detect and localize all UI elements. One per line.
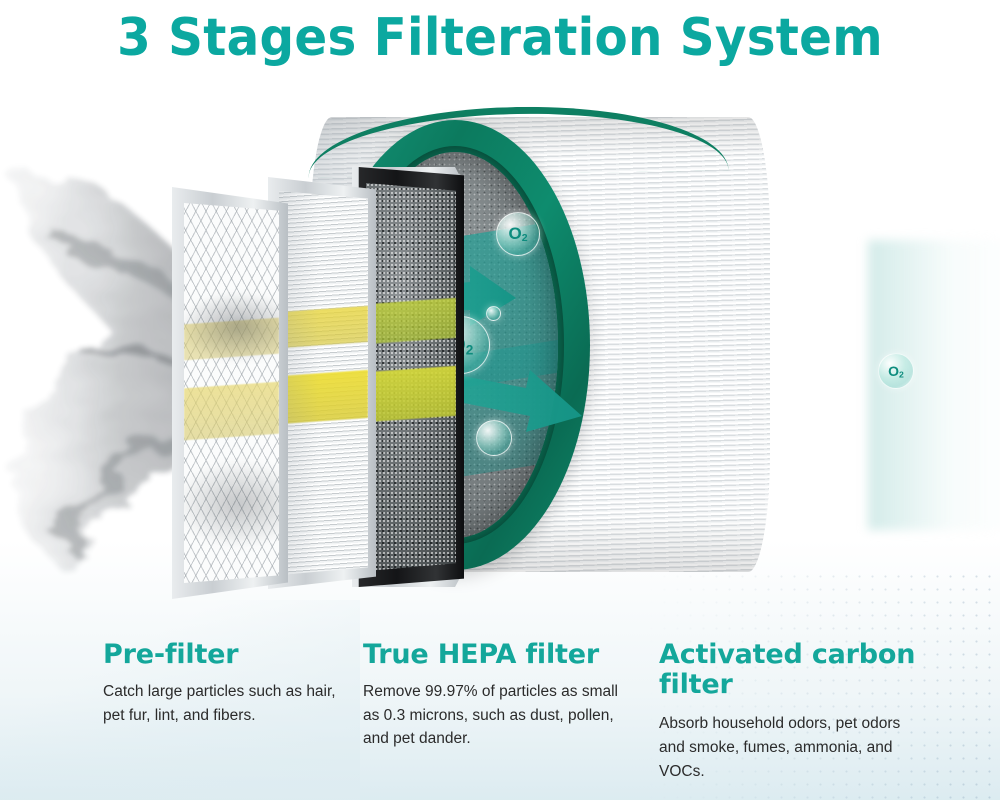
stage-card-carbon-filter: Activated carbon filter Absorb household… bbox=[659, 640, 919, 783]
stage-description: Absorb household odors, pet odors and sm… bbox=[659, 712, 919, 783]
airflow-stripe bbox=[184, 382, 279, 441]
pre-filter-mesh-texture bbox=[184, 203, 279, 583]
stage-heading: True HEPA filter bbox=[363, 640, 638, 670]
stage-heading: Pre-filter bbox=[103, 640, 353, 670]
stage-captions: Pre-filter Catch large particles such as… bbox=[0, 618, 1000, 800]
o2-bubble-plain bbox=[486, 306, 501, 321]
hepa-pleat-texture bbox=[279, 191, 368, 575]
stage-heading: Activated carbon filter bbox=[659, 640, 919, 700]
smoke-overlay bbox=[184, 459, 279, 549]
airflow-stripe bbox=[366, 366, 456, 422]
stage-description: Remove 99.97% of particles as small as 0… bbox=[363, 680, 638, 751]
pre-filter-panel bbox=[172, 187, 288, 599]
o2-bubble: O2 bbox=[496, 212, 540, 256]
stage-description: Catch large particles such as hair, pet … bbox=[103, 680, 353, 727]
airflow-stripe bbox=[366, 298, 456, 344]
smoke-overlay bbox=[184, 291, 279, 363]
carbon-granular-texture bbox=[366, 183, 456, 571]
infographic-canvas: 3 Stages Filteration System bbox=[0, 0, 1000, 800]
stage-card-pre-filter: Pre-filter Catch large particles such as… bbox=[103, 640, 353, 727]
stage-card-hepa-filter: True HEPA filter Remove 99.97% of partic… bbox=[363, 640, 638, 751]
filtration-diagram: O2 O2 O2 O2 O2 bbox=[0, 95, 1000, 615]
o2-bubble-plain bbox=[476, 420, 512, 456]
o2-bubble-outside: O2 bbox=[878, 353, 914, 389]
page-title: 3 Stages Filteration System bbox=[35, 8, 965, 68]
